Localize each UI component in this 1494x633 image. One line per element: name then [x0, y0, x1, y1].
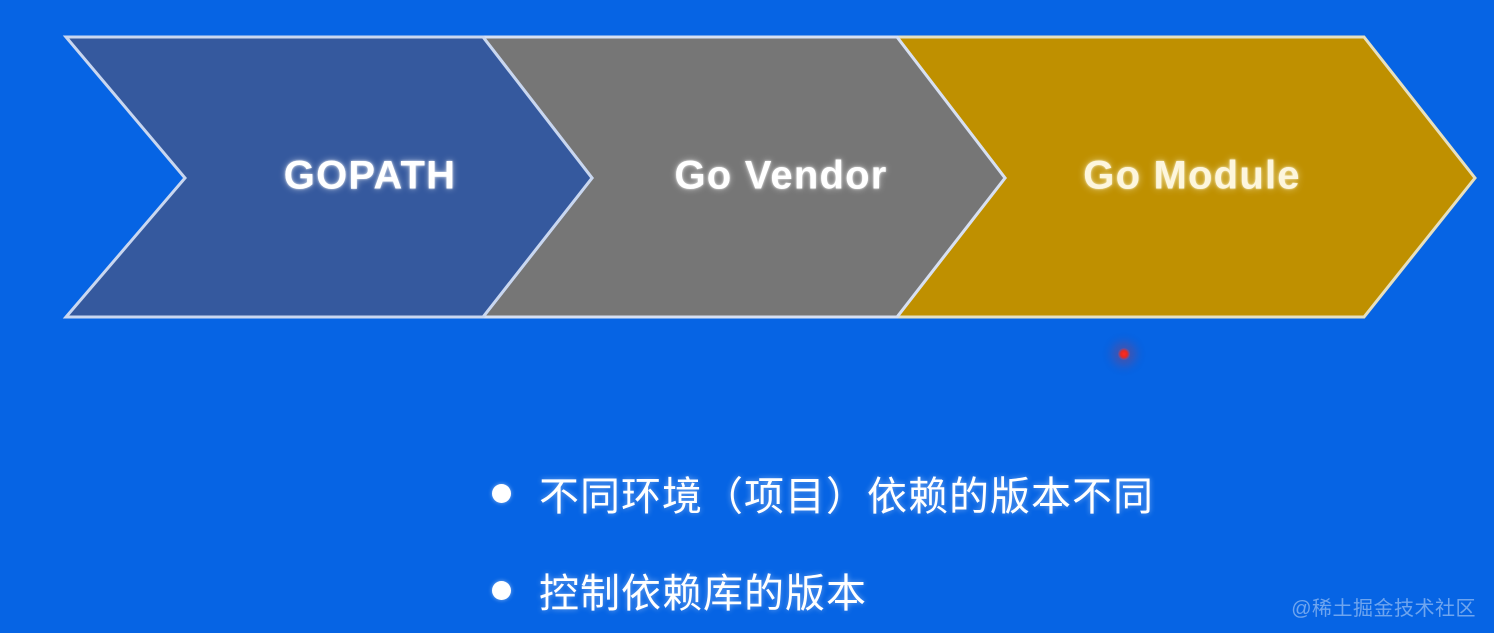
chevron-label-go-vendor: Go Vendor: [674, 154, 887, 199]
list-item: 不同环境（项目）依赖的版本不同: [492, 462, 1372, 524]
watermark: @稀土掘金技术社区: [1291, 592, 1476, 621]
chevron-label-gopath: GOPATH: [284, 154, 456, 199]
bullet-dot-icon: [492, 581, 511, 600]
chevron-label-go-module: Go Module: [1083, 154, 1300, 199]
bullet-dot-icon: [492, 484, 511, 503]
bullet-item-label: 不同环境（项目）依赖的版本不同: [539, 464, 1154, 522]
list-item: 控制依赖库的版本: [492, 559, 1372, 621]
bullet-item-label: 控制依赖库的版本: [539, 561, 867, 619]
presentation-slide: GOPATH Go Vendor Go Module 不同环境（项目）依赖的版本…: [0, 0, 1494, 633]
laser-pointer-dot-icon: [1118, 348, 1130, 360]
bullet-list: 不同环境（项目）依赖的版本不同 控制依赖库的版本: [492, 462, 1372, 633]
